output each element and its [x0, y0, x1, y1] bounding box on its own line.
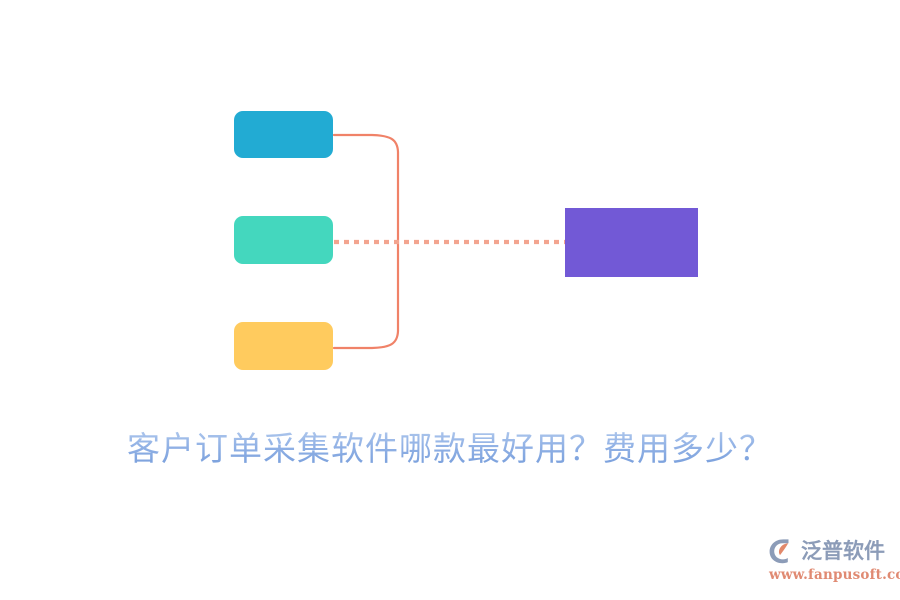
diagram-node-purple[interactable] — [565, 208, 698, 277]
brand-logo-row: 泛普软件 — [768, 536, 892, 566]
diagram-node-yellow[interactable] — [234, 322, 333, 370]
diagram-node-green[interactable] — [234, 216, 333, 264]
connector-layer — [0, 0, 900, 600]
screenshot-canvas: 客户订单采集软件哪款最好用？费用多少？ 泛普软件 www.fanpusoft.c… — [0, 0, 900, 600]
connector-blue-to-spine — [334, 135, 398, 242]
brand-name: 泛普软件 — [801, 537, 885, 565]
diagram-node-blue[interactable] — [234, 111, 333, 158]
brand-watermark: 泛普软件 www.fanpusoft.com — [768, 536, 892, 586]
brand-url: www.fanpusoft.com — [768, 567, 892, 583]
fanpu-swoosh-icon — [768, 537, 798, 565]
connector-yellow-to-spine — [334, 242, 398, 348]
page-title: 客户订单采集软件哪款最好用？费用多少？ — [0, 424, 900, 474]
